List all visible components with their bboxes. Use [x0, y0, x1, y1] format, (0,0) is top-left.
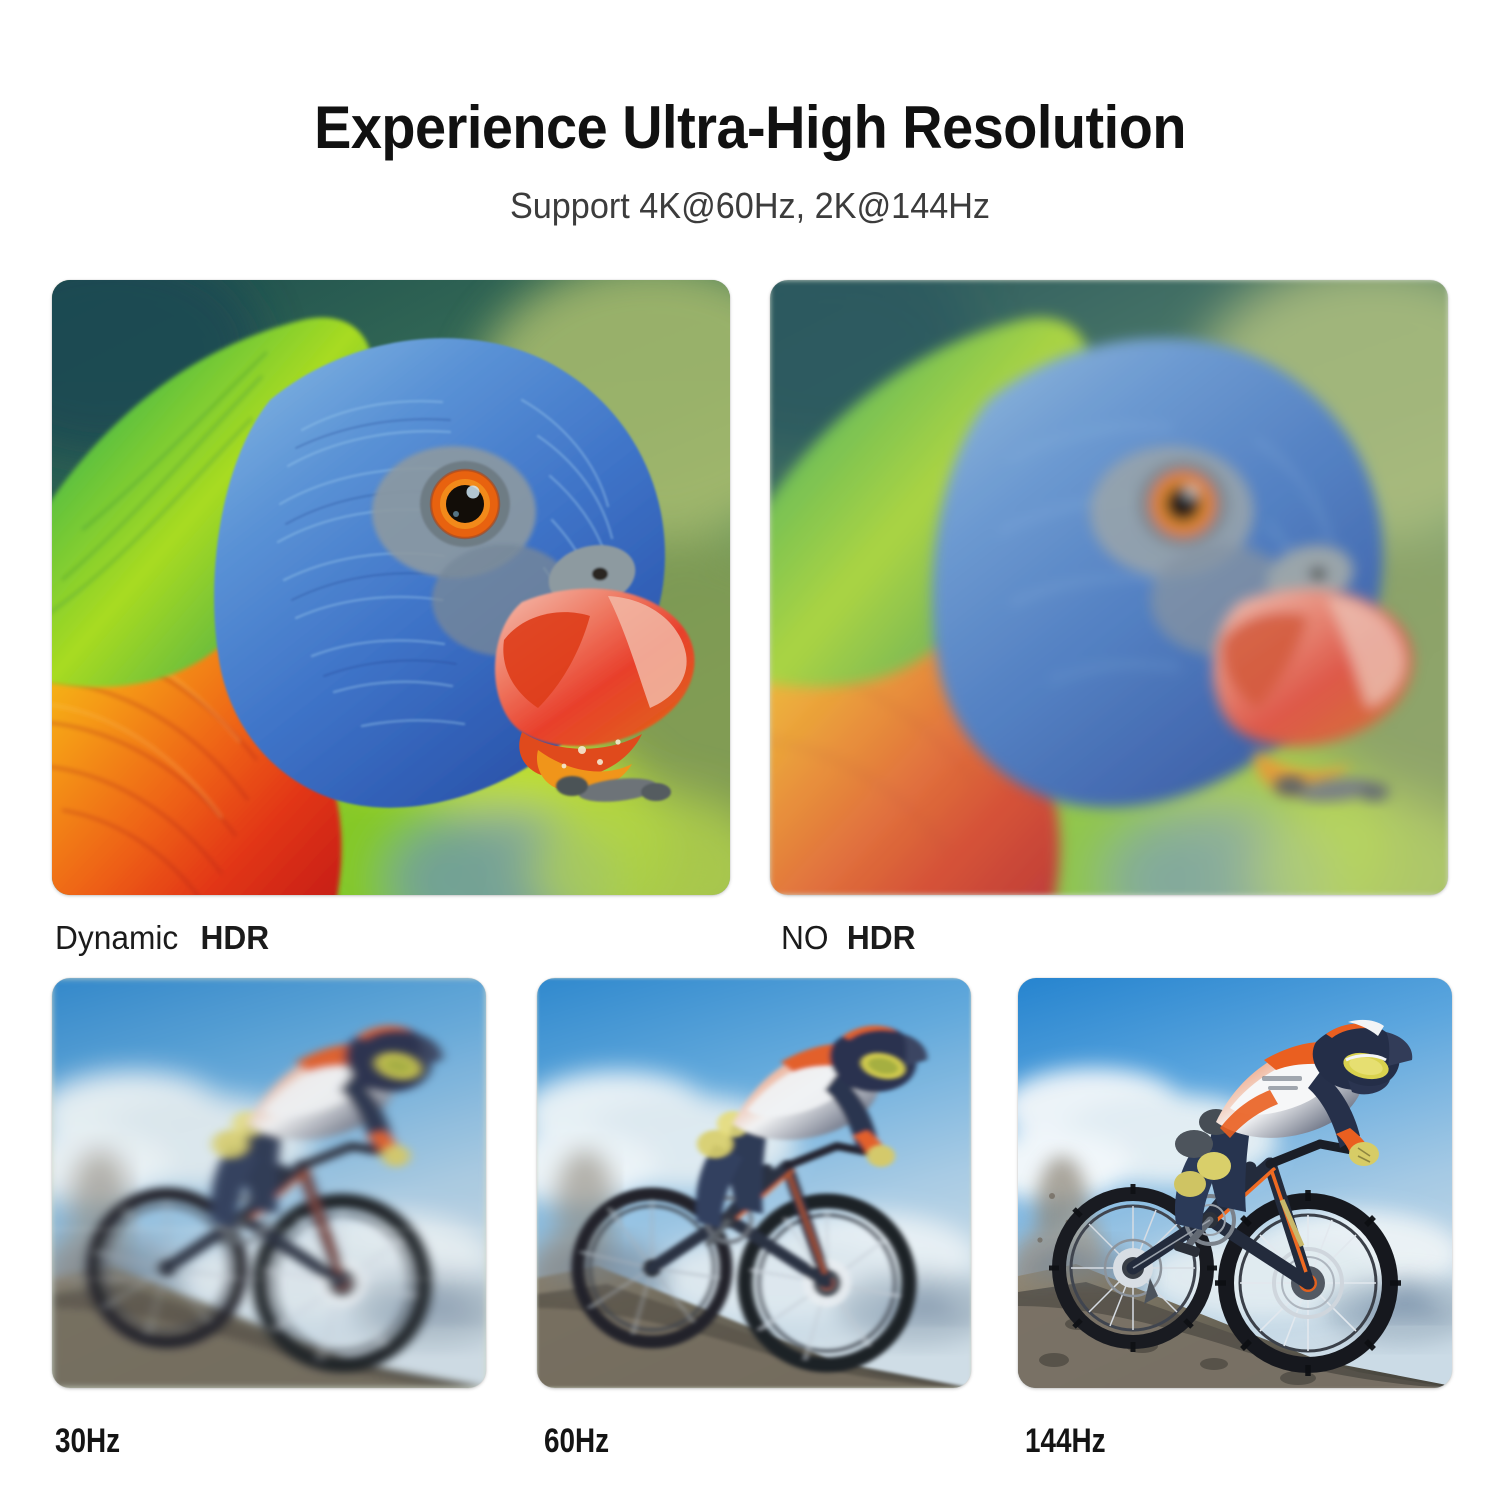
cyclist-photo-30hz — [52, 978, 486, 1388]
caption-60hz: 60Hz — [544, 1424, 609, 1458]
cyclist-photo-60hz — [537, 978, 971, 1388]
parrot-photo-blurred — [770, 280, 1448, 895]
caption-dynamic-hdr: Dynamic HDR — [55, 921, 269, 954]
page-title: Experience Ultra-High Resolution — [53, 98, 1448, 158]
image-card-30hz — [52, 978, 486, 1388]
caption-emphasis-hdr-b: HDR — [847, 919, 916, 956]
caption-no-hdr: NO HDR — [781, 921, 916, 954]
cyclist-photo-144hz — [1018, 978, 1452, 1388]
image-card-dynamic-hdr — [52, 280, 730, 895]
image-card-144hz — [1018, 978, 1452, 1388]
caption-lead-dynamic: Dynamic — [55, 919, 178, 956]
parrot-photo-sharp — [52, 280, 730, 895]
caption-30hz: 30Hz — [55, 1424, 120, 1458]
caption-lead-no: NO — [781, 919, 829, 956]
image-card-60hz — [537, 978, 971, 1388]
page-subtitle: Support 4K@60Hz, 2K@144Hz — [38, 188, 1463, 224]
caption-emphasis-hdr-a: HDR — [200, 919, 269, 956]
parrot-eye — [420, 461, 510, 547]
caption-144hz: 144Hz — [1025, 1424, 1106, 1458]
product-feature-panel: Experience Ultra-High Resolution Support… — [0, 0, 1500, 1500]
image-card-no-hdr — [770, 280, 1448, 895]
